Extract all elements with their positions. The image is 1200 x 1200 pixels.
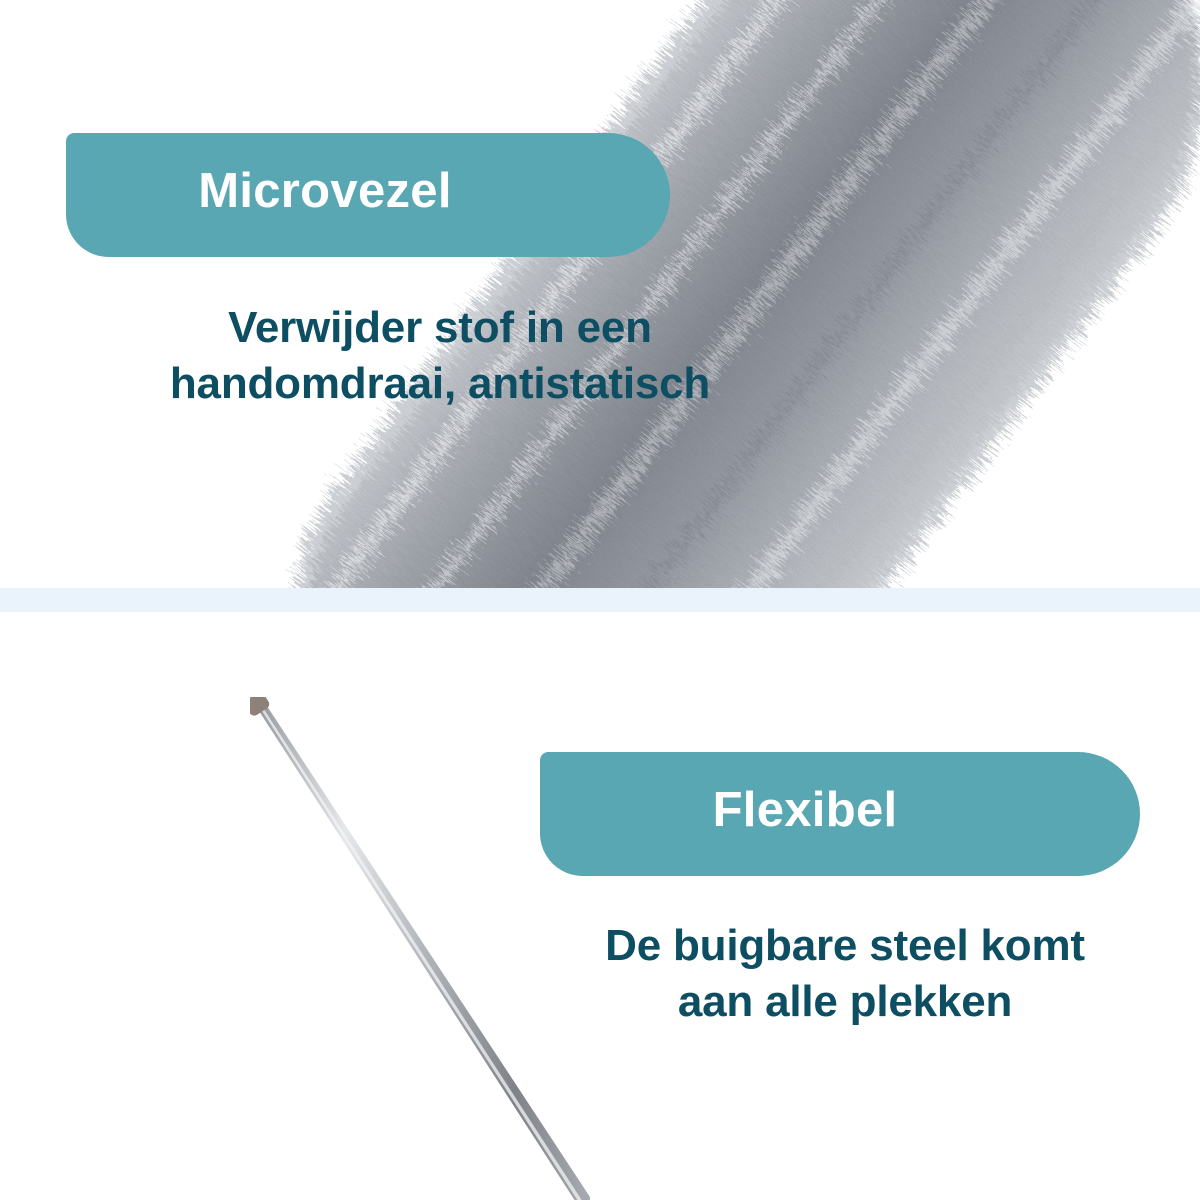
fiber-body	[212, 0, 1200, 588]
badge-flexibel: Flexibel	[540, 752, 1140, 876]
fiber-halo	[191, 0, 1200, 588]
microvezel-duster-head-image	[104, 0, 1200, 588]
caption-microvezel: Verwijder stof in een handomdraai, antis…	[60, 300, 820, 413]
caption-microvezel-line-2: handomdraai, antistatisch	[60, 356, 820, 412]
caption-microvezel-line-1: Verwijder stof in een	[60, 300, 820, 356]
badge-flexibel-label: Flexibel	[713, 786, 968, 843]
feature-panel-flexibel: Flexibel De buigbare steel komt aan alle…	[0, 612, 1200, 1200]
caption-flexibel: De buigbare steel komt aan alle plekken	[510, 918, 1180, 1031]
caption-flexibel-line-1: De buigbare steel komt	[510, 918, 1180, 974]
product-feature-infographic: Microvezel Verwijder stof in een handomd…	[0, 0, 1200, 1200]
caption-flexibel-line-2: aan alle plekken	[510, 974, 1180, 1030]
badge-microvezel: Microvezel	[66, 133, 670, 257]
feature-panel-microvezel: Microvezel Verwijder stof in een handomd…	[0, 0, 1200, 588]
panel-divider	[0, 588, 1200, 612]
fiber-strands	[253, 0, 1200, 588]
badge-microvezel-label: Microvezel	[198, 167, 538, 224]
